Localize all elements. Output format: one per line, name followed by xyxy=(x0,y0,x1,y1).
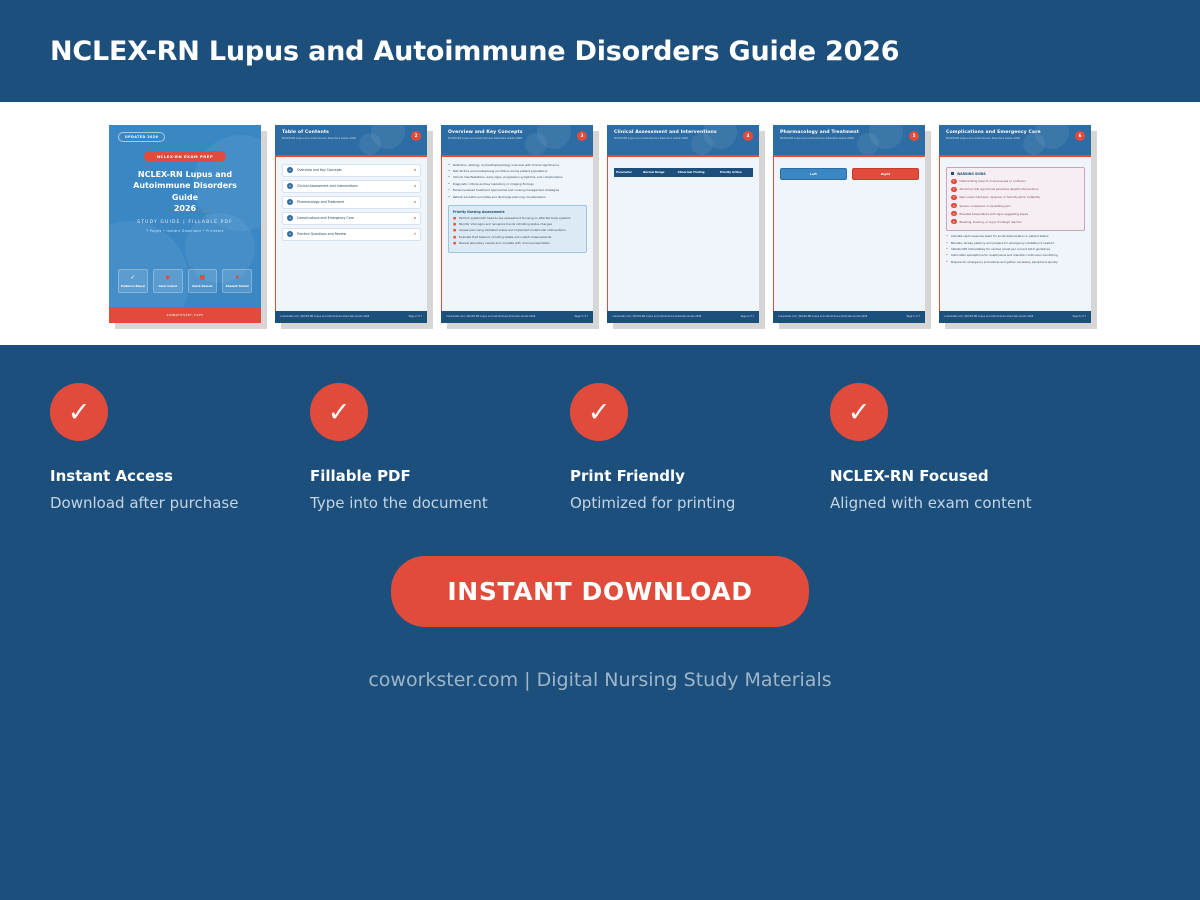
toc-number: 3 xyxy=(287,199,293,205)
warning-text: Abnormal vital sign trends persisting de… xyxy=(960,187,1039,191)
toc-label: Pharmacology and Treatment xyxy=(297,200,414,204)
toc-item[interactable]: 1 Overview and Key Concepts 3 xyxy=(282,164,421,177)
toc-item[interactable]: 2 Clinical Assessment and Interventions … xyxy=(282,180,421,193)
panel-row: Left Right xyxy=(780,168,919,180)
footer-left: coworkster.com | NCLEX-RN Lupus and Auto… xyxy=(778,315,867,318)
bullet-icon: • xyxy=(448,164,450,168)
bullet-icon: • xyxy=(946,242,948,246)
callout-text: Assess pain using validated scales and i… xyxy=(459,229,566,233)
page-footer: coworkster.com | NCLEX-RN Lupus and Auto… xyxy=(773,311,925,323)
feature-fillable-pdf: ✓ Fillable PDF Type into the document xyxy=(310,383,570,512)
warning-number: 4 xyxy=(951,203,957,209)
feature-print-friendly: ✓ Print Friendly Optimized for printing xyxy=(570,383,830,512)
bullet-text: Definition, etiology, and pathophysiolog… xyxy=(453,164,559,168)
check-icon: ✓ xyxy=(120,275,146,281)
toc-item[interactable]: 3 Pharmacology and Treatment 5 xyxy=(282,196,421,209)
bullet-item: •Initiate CPR immediately for cardiac ar… xyxy=(946,248,1085,252)
warning-number: 6 xyxy=(951,219,957,225)
toc-label: Clinical Assessment and Interventions xyxy=(297,184,414,188)
check-icon: ✓ xyxy=(310,383,368,441)
cover-feature-label: Quick Review xyxy=(190,284,216,288)
cover-body: UPDATED 2026 NCLEX-RN EXAM PREP NCLEX-RN… xyxy=(109,125,261,323)
thumbnail-page-3[interactable]: Overview and Key Concepts NCLEX-RN Lupus… xyxy=(441,125,593,323)
priority-assessments-callout: Priority Nursing Assessments ■Perform sy… xyxy=(448,205,587,253)
column-header: Parameter xyxy=(614,168,641,177)
thumbnail-strip: UPDATED 2026 NCLEX-RN EXAM PREP NCLEX-RN… xyxy=(0,102,1200,345)
cover-footer: coworkster.com xyxy=(109,307,261,323)
toc-page: 7 xyxy=(414,232,416,236)
cover-divider xyxy=(162,213,208,215)
table-header-row: Parameter Normal Range Abnormal Finding … xyxy=(614,168,753,177)
cover-feature-label: Color Coded xyxy=(155,284,181,288)
cover-feature-student-tested: ★ Student Tested xyxy=(222,269,252,293)
column-header: Abnormal Finding xyxy=(676,168,718,177)
cover-feature-quick-review: ■ Quick Review xyxy=(188,269,218,293)
page-title: NCLEX-RN Lupus and Autoimmune Disorders … xyxy=(50,36,899,67)
page-number-badge: 4 xyxy=(743,131,753,141)
square-icon: ■ xyxy=(190,275,216,281)
page-body: 1 Overview and Key Concepts 3 2 Clinical… xyxy=(275,157,427,311)
bullet-icon: • xyxy=(448,189,450,193)
cover-updated-badge: UPDATED 2026 xyxy=(118,132,165,142)
toc-page: 3 xyxy=(414,168,416,172)
footer-left: coworkster.com | NCLEX-RN Lupus and Auto… xyxy=(944,315,1033,318)
page-title: Table of Contents xyxy=(282,130,420,135)
bullet-item: •Risk factors and predisposing condition… xyxy=(448,170,587,174)
cover-title: NCLEX-RN Lupus and Autoimmune Disorders … xyxy=(121,169,249,215)
warning-box: WARNING SIGNS 1Deteriorating level of co… xyxy=(946,167,1085,232)
callout-item: ■Review laboratory results and correlate… xyxy=(453,242,582,246)
warning-text: New onset chest pain, dyspnea, or hemody… xyxy=(960,195,1041,199)
footer-left: coworkster.com | NCLEX-RN Lupus and Auto… xyxy=(446,315,535,318)
page-header: NCLEX-RN Lupus and Autoimmune Disorders … xyxy=(0,0,1200,102)
panel-left: Left xyxy=(780,168,847,180)
callout-text: Perform systematic head-to-toe assessmen… xyxy=(459,217,571,221)
warning-item: 1Deteriorating level of consciousness or… xyxy=(951,179,1080,185)
bullet-icon: ■ xyxy=(453,223,456,227)
callout-item: ■Perform systematic head-to-toe assessme… xyxy=(453,217,582,221)
bullet-item: •Activate rapid response team for acute … xyxy=(946,235,1085,239)
footer-right: Page 4 of 7 xyxy=(741,315,754,318)
warning-heading: WARNING SIGNS xyxy=(951,172,1080,176)
footer-right: Page 3 of 7 xyxy=(575,315,588,318)
page-header-band: Complications and Emergency Care NCLEX-R… xyxy=(939,125,1091,155)
warning-text: Severe, unrelieved, or escalating pain xyxy=(960,204,1011,208)
footer-right: Page 5 of 7 xyxy=(907,315,920,318)
cover-feature-row: ✓ Evidence Based ◆ Color Coded ■ Quick R… xyxy=(118,269,252,293)
callout-item: ■Assess pain using validated scales and … xyxy=(453,229,582,233)
emergency-action-list: •Activate rapid response team for acute … xyxy=(946,235,1085,265)
bullet-item: •Definition, etiology, and pathophysiolo… xyxy=(448,164,587,168)
warning-number: 3 xyxy=(951,195,957,201)
feature-title: Fillable PDF xyxy=(310,467,570,485)
bullet-icon: • xyxy=(448,176,450,180)
column-header: Priority Action xyxy=(718,168,753,177)
palette-icon: ◆ xyxy=(155,275,181,281)
page-footer: coworkster.com | NCLEX-RN Lupus and Auto… xyxy=(275,311,427,323)
bullet-icon: • xyxy=(946,261,948,265)
column-header: Normal Range xyxy=(641,168,676,177)
warning-item: 4Severe, unrelieved, or escalating pain xyxy=(951,203,1080,209)
page-body: WARNING SIGNS 1Deteriorating level of co… xyxy=(939,157,1091,311)
page-title: Clinical Assessment and Interventions xyxy=(614,130,752,135)
bullet-text: Activate rapid response team for acute d… xyxy=(951,235,1049,239)
cover-feature-label: Evidence Based xyxy=(120,284,146,288)
page-title: Overview and Key Concepts xyxy=(448,130,586,135)
feature-description: Optimized for printing xyxy=(570,494,830,512)
toc-number: 4 xyxy=(287,215,293,221)
page-footer: coworkster.com | NCLEX-RN Lupus and Auto… xyxy=(939,311,1091,323)
feature-nclex-focused: ✓ NCLEX-RN Focused Aligned with exam con… xyxy=(830,383,1090,512)
warning-item: 6Bleeding, bruising, or signs of allergi… xyxy=(951,219,1080,225)
bullet-text: Maintain airway patency and prepare for … xyxy=(951,242,1054,246)
callout-item: ■Evaluate fluid balance including intake… xyxy=(453,236,582,240)
page-header-band: Table of Contents NCLEX-RN Lupus and Aut… xyxy=(275,125,427,155)
callout-text: Monitor vital signs and recognize trends… xyxy=(459,223,552,227)
star-icon: ★ xyxy=(224,275,250,281)
thumbnail-page-6[interactable]: Complications and Emergency Care NCLEX-R… xyxy=(939,125,1091,323)
feature-title: NCLEX-RN Focused xyxy=(830,467,1090,485)
bullet-text: Evidence-based treatment approaches and … xyxy=(453,189,559,193)
check-icon: ✓ xyxy=(830,383,888,441)
callout-heading: Priority Nursing Assessments xyxy=(453,210,582,214)
warning-icon xyxy=(951,172,954,175)
footer-right: Page 6 of 7 xyxy=(1073,315,1086,318)
bullet-text: Clinical manifestations: early signs, pr… xyxy=(453,176,563,180)
site-footer: coworkster.com | Digital Nursing Study M… xyxy=(0,627,1200,691)
bullet-item: •Prepare for emergency procedures and ga… xyxy=(946,261,1085,265)
bullet-icon: ■ xyxy=(453,242,456,246)
callout-text: Review laboratory results and correlate … xyxy=(459,242,550,246)
bullet-icon: • xyxy=(448,196,450,200)
assessment-table: Parameter Normal Range Abnormal Finding … xyxy=(614,168,753,177)
cover-exam-pill: NCLEX-RN EXAM PREP xyxy=(144,151,226,162)
toc-number: 2 xyxy=(287,183,293,189)
toc-page: 5 xyxy=(414,200,416,204)
thumbnail-cover-page[interactable]: UPDATED 2026 NCLEX-RN EXAM PREP NCLEX-RN… xyxy=(109,125,261,323)
page-body: •Definition, etiology, and pathophysiolo… xyxy=(441,157,593,311)
warning-item: 3New onset chest pain, dyspnea, or hemod… xyxy=(951,195,1080,201)
toc-number: 1 xyxy=(287,167,293,173)
warning-number: 1 xyxy=(951,179,957,185)
bullet-item: •Patient education priorities and discha… xyxy=(448,196,587,200)
page-header-band: Overview and Key Concepts NCLEX-RN Lupus… xyxy=(441,125,593,155)
bullet-icon: • xyxy=(448,170,450,174)
warning-number: 5 xyxy=(951,211,957,217)
warning-text: Deteriorating level of consciousness or … xyxy=(960,179,1026,183)
bullet-item: •Maintain airway patency and prepare for… xyxy=(946,242,1085,246)
warning-item: 5Elevated temperature with signs suggest… xyxy=(951,211,1080,217)
bullet-text: Prepare for emergency procedures and gat… xyxy=(951,261,1058,265)
bullet-icon: ■ xyxy=(453,229,456,233)
cover-title-line1: NCLEX-RN Lupus and xyxy=(138,170,232,179)
bullet-icon: ■ xyxy=(453,236,456,240)
warning-text: Bleeding, bruising, or signs of allergic… xyxy=(960,220,1022,224)
toc-page: 4 xyxy=(414,184,416,188)
warning-heading-text: WARNING SIGNS xyxy=(957,172,986,176)
page-number-badge: 2 xyxy=(411,131,421,141)
page-body: Left Right xyxy=(773,157,925,311)
cover-feature-label: Student Tested xyxy=(224,284,250,288)
page-number-badge: 6 xyxy=(1075,131,1085,141)
page-subtitle: NCLEX-RN Lupus and Autoimmune Disorders … xyxy=(448,137,586,140)
feature-title: Print Friendly xyxy=(570,467,830,485)
page-number-badge: 5 xyxy=(909,131,919,141)
bullet-item: •Evidence-based treatment approaches and… xyxy=(448,189,587,193)
thumbnail-page-4[interactable]: Clinical Assessment and Interventions NC… xyxy=(607,125,759,323)
page-number-badge: 3 xyxy=(577,131,587,141)
bullet-item: •Diagnostic criteria and key laboratory … xyxy=(448,183,587,187)
warning-text: Elevated temperature with signs suggesti… xyxy=(960,212,1029,216)
page-header-band: Clinical Assessment and Interventions NC… xyxy=(607,125,759,155)
toc-item[interactable]: 5 Practice Questions and Review 7 xyxy=(282,228,421,241)
bullet-text: Diagnostic criteria and key laboratory o… xyxy=(453,183,534,187)
warning-number: 2 xyxy=(951,187,957,193)
cover-subtitle: STUDY GUIDE | FILLABLE PDF xyxy=(109,220,261,225)
bullet-icon: • xyxy=(946,248,948,252)
feature-description: Aligned with exam content xyxy=(830,494,1090,512)
bullet-text: Risk factors and predisposing conditions… xyxy=(453,170,547,174)
cover-title-line2: Autoimmune Disorders Guide xyxy=(133,181,237,202)
toc-label: Complications and Emergency Care xyxy=(297,216,414,220)
footer-right: Page 2 of 7 xyxy=(409,315,422,318)
toc-number: 5 xyxy=(287,231,293,237)
toc-label: Practice Questions and Review xyxy=(297,232,414,236)
cover-meta: 7 Pages • Instant Download • Printable xyxy=(109,229,261,233)
footer-left: coworkster.com | NCLEX-RN Lupus and Auto… xyxy=(280,315,369,318)
callout-text: Evaluate fluid balance including intake … xyxy=(459,236,551,240)
bullet-icon: • xyxy=(946,235,948,239)
bullet-icon: ■ xyxy=(453,217,456,221)
warning-item: 2Abnormal vital sign trends persisting d… xyxy=(951,187,1080,193)
page-footer: coworkster.com | NCLEX-RN Lupus and Auto… xyxy=(441,311,593,323)
page-subtitle: NCLEX-RN Lupus and Autoimmune Disorders … xyxy=(946,137,1084,140)
page-title: Pharmacology and Treatment xyxy=(780,130,918,135)
check-icon: ✓ xyxy=(570,383,628,441)
feature-description: Download after purchase xyxy=(50,494,310,512)
page-body: Parameter Normal Range Abnormal Finding … xyxy=(607,157,759,311)
cover-feature-evidence-based: ✓ Evidence Based xyxy=(118,269,148,293)
panel-right: Right xyxy=(852,168,919,180)
page-footer: coworkster.com | NCLEX-RN Lupus and Auto… xyxy=(607,311,759,323)
thumbnail-page-5[interactable]: Pharmacology and Treatment NCLEX-RN Lupu… xyxy=(773,125,925,323)
bullet-icon: • xyxy=(448,183,450,187)
toc-item[interactable]: 4 Complications and Emergency Care 6 xyxy=(282,212,421,225)
bullet-text: Initiate CPR immediately for cardiac arr… xyxy=(951,248,1050,252)
bullet-item: •Administer epinephrine for anaphylaxis … xyxy=(946,254,1085,258)
footer-left: coworkster.com | NCLEX-RN Lupus and Auto… xyxy=(612,315,701,318)
cta-section: INSTANT DOWNLOAD coworkster.com | Digita… xyxy=(0,512,1200,691)
cover-feature-color-coded: ◆ Color Coded xyxy=(153,269,183,293)
page-subtitle: NCLEX-RN Lupus and Autoimmune Disorders … xyxy=(282,137,420,140)
page-header-band: Pharmacology and Treatment NCLEX-RN Lupu… xyxy=(773,125,925,155)
bullet-item: •Clinical manifestations: early signs, p… xyxy=(448,176,587,180)
toc-label: Overview and Key Concepts xyxy=(297,168,414,172)
features-section: ✓ Instant Access Download after purchase… xyxy=(0,345,1200,512)
toc-page: 6 xyxy=(414,216,416,220)
callout-item: ■Monitor vital signs and recognize trend… xyxy=(453,223,582,227)
instant-download-button[interactable]: INSTANT DOWNLOAD xyxy=(391,556,808,627)
bullet-icon: • xyxy=(946,254,948,258)
page-subtitle: NCLEX-RN Lupus and Autoimmune Disorders … xyxy=(780,137,918,140)
feature-instant-access: ✓ Instant Access Download after purchase xyxy=(50,383,310,512)
check-icon: ✓ xyxy=(50,383,108,441)
page-subtitle: NCLEX-RN Lupus and Autoimmune Disorders … xyxy=(614,137,752,140)
thumbnail-page-2[interactable]: Table of Contents NCLEX-RN Lupus and Aut… xyxy=(275,125,427,323)
bullet-text: Patient education priorities and dischar… xyxy=(453,196,546,200)
feature-title: Instant Access xyxy=(50,467,310,485)
bullet-text: Administer epinephrine for anaphylaxis a… xyxy=(951,254,1058,258)
feature-description: Type into the document xyxy=(310,494,570,512)
page-title: Complications and Emergency Care xyxy=(946,130,1084,135)
